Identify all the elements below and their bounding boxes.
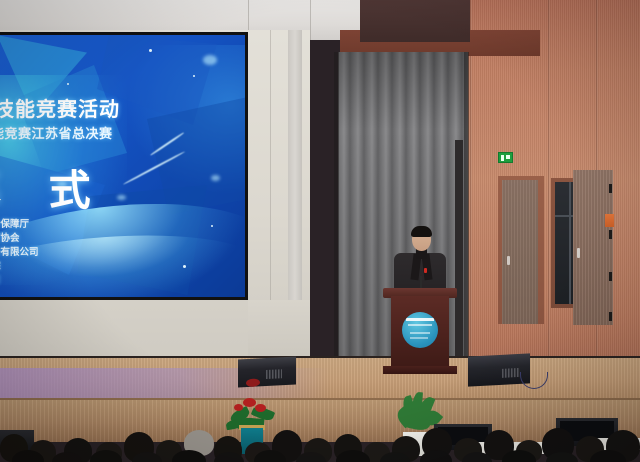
- door-handle[interactable]: [577, 248, 580, 258]
- door-hinge: [609, 184, 612, 193]
- light-bokeh: [117, 195, 126, 200]
- screen-title-line: 兵职业技能竞赛活动: [0, 93, 231, 122]
- light-particle: [193, 75, 195, 77]
- wall-base: [248, 300, 310, 360]
- wall-sign: [605, 214, 614, 227]
- wall-stripe: [288, 30, 302, 340]
- ceiling-seam: [310, 0, 311, 40]
- podium-base: [383, 366, 457, 374]
- door-hinge: [609, 312, 612, 321]
- screen-subtitle-line: 用职业技能竞赛江苏省总决赛: [0, 123, 237, 142]
- organization-line: 春有限公司: [0, 274, 39, 288]
- screen-headline: 幕 式: [0, 157, 109, 218]
- led-display-screen: 兵职业技能竞赛活动 用职业技能竞赛江苏省总决赛 幕 式 资源和社会保障厅 年科技…: [0, 32, 248, 300]
- window-mullion: [569, 182, 571, 304]
- curtain-valance: [360, 0, 470, 42]
- light-particle: [211, 225, 213, 227]
- audience-head: [546, 452, 578, 462]
- podium-emblem: [402, 312, 438, 348]
- light-bokeh: [211, 175, 220, 181]
- organization-line: 资源和社会保障厅: [0, 218, 39, 232]
- light-particle: [67, 83, 69, 85]
- flower-bloom: [255, 404, 266, 412]
- speaker-grill: [502, 368, 520, 378]
- wood-wall-seam: [548, 0, 550, 400]
- door-handle[interactable]: [507, 256, 510, 265]
- auditorium-photograph: 兵职业技能竞赛活动 用职业技能竞赛江苏省总决赛 幕 式 资源和社会保障厅 年科技…: [0, 0, 640, 462]
- light-particle: [183, 265, 186, 268]
- stage-monitor-speaker: [238, 356, 296, 387]
- speaker-grill: [266, 369, 282, 379]
- curtain-edge: [464, 52, 469, 362]
- curtain-edge: [334, 52, 339, 362]
- lapel-pin: [424, 268, 427, 273]
- light-particle: [149, 49, 152, 52]
- door-hinge: [609, 272, 612, 281]
- flower-bloom: [243, 398, 256, 407]
- wood-wall-seam: [470, 0, 472, 400]
- organization-line: 业技术学院: [0, 260, 39, 274]
- screen-organization-list: 资源和社会保障厅 年科技教育协会 业教育图书有限公司 业技术学院 春有限公司: [0, 218, 39, 288]
- speaker-cone: [246, 378, 260, 387]
- door-closed[interactable]: [502, 180, 538, 324]
- door-hinge: [609, 230, 612, 239]
- organization-line: 业教育图书有限公司: [0, 246, 39, 260]
- speaker-hair: [411, 226, 432, 237]
- exit-sign-icon: [498, 152, 513, 163]
- wall-shadow-strip: [455, 140, 463, 360]
- light-bokeh: [203, 55, 217, 65]
- organization-line: 年科技教育协会: [0, 232, 39, 246]
- flower-bloom: [234, 404, 243, 411]
